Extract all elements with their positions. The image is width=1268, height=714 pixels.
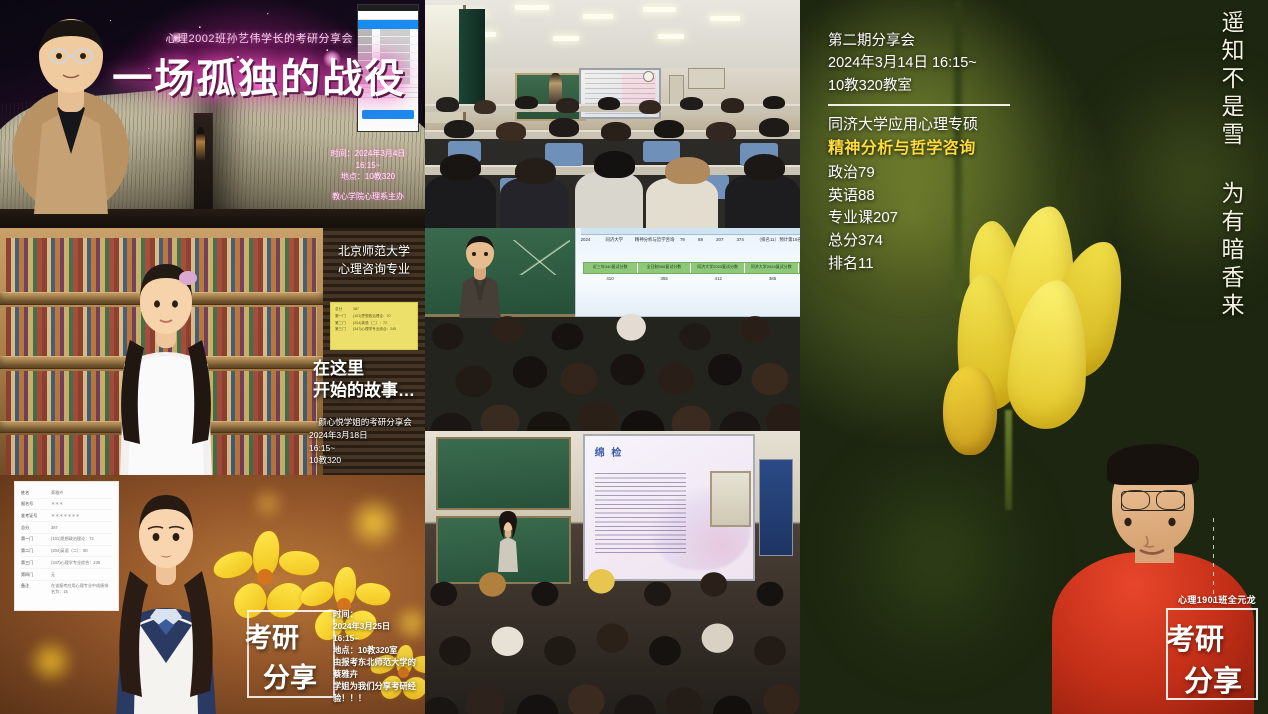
score-key: 第三门 (335, 326, 353, 333)
card-key: 第三门 (21, 560, 51, 566)
card-key: 总分 (21, 525, 51, 531)
wall-poster (759, 459, 793, 555)
band-value: 355 (637, 276, 691, 287)
event-details: 颜心悦学姐的考研分享会 2024年3月18日 16:15~ 10教320 (309, 416, 421, 467)
projected-score-slide: 2024 同济大学 精神分析与哲学咨询 79 88 207 374 （排名11）… (575, 228, 800, 317)
walking-figure-illustration (196, 134, 205, 160)
score-key: 总分 (335, 306, 353, 313)
poster-meta: 时间：2024年3月4日 16:15~ 地点：10教320 教心学院心理系主办 (319, 148, 417, 202)
score-value: (347)心理学专业综合：245 (353, 326, 396, 333)
card-value: (101)思想政治理论：72 (51, 536, 94, 542)
slogan-text: 在这里 开始的故事… (313, 358, 421, 402)
slide-cell: 207 (716, 237, 736, 243)
card-key: 准考证号 (21, 513, 51, 519)
slide-green-band: 近三年340复试分数 全日制350复试分数 同济大学2023复试分数 同济大学2… (583, 262, 800, 275)
card-value: (347)心理学专业综合：235 (51, 560, 100, 566)
wall-cabinet (710, 471, 751, 528)
classroom-photo-scores-slide: 2024 同济大学 精神分析与哲学咨询 79 88 207 374 （排名11）… (425, 228, 800, 431)
slide-cell: 88 (698, 237, 716, 243)
band-cell: 同济大学2023复试分数 (691, 263, 745, 274)
session-info-block: 第二期分享会 2024年3月14日 16:15~ 10教320教室 同济大学应用… (828, 30, 1018, 276)
score-line: 排名11 (828, 253, 1018, 276)
vertical-poem-text: 遥知不是雪 为有暗香来 (1212, 10, 1248, 321)
kaoyan-share-badge: 考研 分享 (247, 610, 335, 698)
slogan-line-1: 在这里 (313, 358, 421, 380)
band-cell: 近三年340复试分数 (584, 263, 638, 274)
event-date: 2024年3月18日 (309, 429, 421, 442)
slide-cell: 2024 (581, 237, 606, 243)
band-value: 385 (745, 276, 799, 287)
meta-line: 时间： (333, 608, 419, 620)
card-value: (204)英语（二）：80 (51, 548, 88, 554)
tulip-poster: 遥知不是雪 为有暗香来 第二期分享会 2024年3月14日 16:15~ 10教… (800, 0, 1268, 714)
card-value: ＊＊＊ (51, 501, 63, 507)
score-key: 第一门 (335, 313, 353, 320)
audience-crowd (425, 313, 800, 431)
slide-cell: 79 (680, 237, 698, 243)
chalkboard-upper (436, 437, 571, 511)
card-key: 第四门 (21, 572, 51, 578)
poster-time-line-1: 时间：2024年3月4日 (319, 148, 417, 160)
card-key: 报名号 (21, 501, 51, 507)
university-label: 北京师范大学 (329, 242, 419, 260)
score-line: 总分374 (828, 230, 1018, 253)
tulip-bud (943, 366, 997, 455)
meta-line: 学姐为我们分享考研经验！！！ (333, 680, 419, 704)
university-name: 北京师范大学 心理咨询专业 (329, 242, 419, 278)
slide-cell: （排名11） (757, 237, 780, 243)
poster-time-line-2: 16:15~ (319, 160, 417, 172)
ppt-title: 绵 检 (595, 444, 624, 459)
score-key: 第二门 (335, 320, 353, 327)
card-key: 姓名 (21, 490, 51, 496)
admission-score-card: 姓名蔡雅卉 报名号＊＊＊ 准考证号＊＊＊＊＊＊＊ 总分387 第一门(101)思… (14, 481, 119, 611)
meta-line: 地点：10教320室 (333, 644, 419, 656)
score-value: (204)英语（二）：72 (353, 320, 387, 327)
poster-host: 教心学院心理系主办 (319, 191, 417, 203)
session-room: 10教320教室 (828, 75, 1018, 97)
slide-band-values: 410 355 412 385 (583, 276, 800, 287)
band-value: 410 (583, 276, 637, 287)
band-cell: 全日制350复试分数 (638, 263, 692, 274)
meta-line: 由报考东北师范大学的蔡雅卉 (333, 656, 419, 680)
card-key: 第一门 (21, 536, 51, 542)
slide-cell: 374 (736, 237, 756, 243)
poster-headline: 一场孤独的战役 (111, 46, 409, 104)
badge-line-2: 分享 (263, 656, 317, 695)
score-value: 387 (353, 306, 359, 313)
major-label: 心理咨询专业 (329, 260, 419, 278)
slide-cell: 精神分析与哲学咨询 (635, 237, 680, 243)
lecture-hall-scene (425, 0, 800, 228)
classroom-photo-ppt-slide: 绵 检 (425, 431, 800, 714)
card-key: 备注 (21, 583, 51, 594)
audience-crowd (425, 556, 800, 714)
badge-line-1: 考研 (1166, 616, 1224, 658)
card-value: 蔡雅卉 (51, 490, 63, 496)
divider (828, 104, 1010, 106)
event-time: 16:15~ (309, 442, 421, 455)
kaoyan-share-badge: 考研 分享 (1166, 608, 1258, 700)
speaker-portrait (12, 4, 130, 214)
spring-flower-poster: 姓名蔡雅卉 报名号＊＊＊ 准考证号＊＊＊＊＊＊＊ 总分387 第一门(101)思… (0, 475, 425, 714)
slide-cell: 预计第16名 (779, 237, 800, 243)
card-value: ＊＊＊＊＊＊＊ (51, 513, 80, 519)
card-value: 387 (51, 525, 58, 531)
event-title: 颜心悦学姐的考研分享会 (309, 416, 421, 429)
card-key: 第二门 (21, 548, 51, 554)
score-line: 英语88 (828, 185, 1018, 208)
score-line: 政治79 (828, 162, 1018, 185)
audience-crowd (425, 96, 800, 228)
meta-line: 2024年3月25日 (333, 620, 419, 632)
library-poster: 北京师范大学 心理咨询专业 总分387 第一门(101)思想政治理论：70 第二… (0, 228, 425, 475)
highlight-direction: 精神分析与哲学咨询 (828, 137, 1018, 162)
lecture-hall-photo-1 (425, 0, 800, 228)
card-value: 无 (51, 572, 55, 578)
score-value: (101)思想政治理论：70 (353, 313, 391, 320)
poster-place: 地点：10教320 (319, 171, 417, 183)
poster-subtitle: 心理2002班孙艺伟学长的考研分享会 (128, 30, 392, 46)
band-value: 412 (691, 276, 745, 287)
card-value: 在该报考应用心理专业中成绩排名为：15 (51, 583, 112, 594)
score-table-overlay: 总分387 第一门(101)思想政治理论：70 第二门(204)英语（二）：72… (330, 302, 418, 350)
session-title: 第二期分享会 (828, 30, 1018, 52)
event-place: 10教320 (309, 454, 421, 467)
score-line: 专业课207 (828, 207, 1018, 230)
session-datetime: 2024年3月14日 16:15~ (828, 52, 1018, 74)
band-cell: 同济大学2024复试分数 (745, 263, 799, 274)
slogan-line-2: 开始的故事… (313, 380, 421, 402)
meta-line: 16:15~ (333, 632, 419, 644)
speaker-portrait (102, 248, 230, 475)
badge-line-1: 考研 (245, 616, 299, 655)
badge-line-2: 分享 (1184, 658, 1242, 700)
event-details: 时间： 2024年3月25日 16:15~ 地点：10教320室 由报考东北师范… (333, 608, 419, 704)
photo-collage: 心理2002班孙艺伟学长的考研分享会 一场孤独的战役 时间：2024年3月4日 … (0, 0, 1268, 714)
speaker-portrait (106, 485, 225, 714)
poster-lonely-battle: 心理2002班孙艺伟学长的考研分享会 一场孤独的战役 时间：2024年3月4日 … (0, 0, 425, 228)
slide-cell: 同济大学 (605, 237, 634, 243)
presenter-figure (455, 236, 504, 317)
speaker-name: 心理1901班全元龙 (1178, 593, 1256, 606)
school-major: 同济大学应用心理专硕 (828, 114, 1018, 137)
